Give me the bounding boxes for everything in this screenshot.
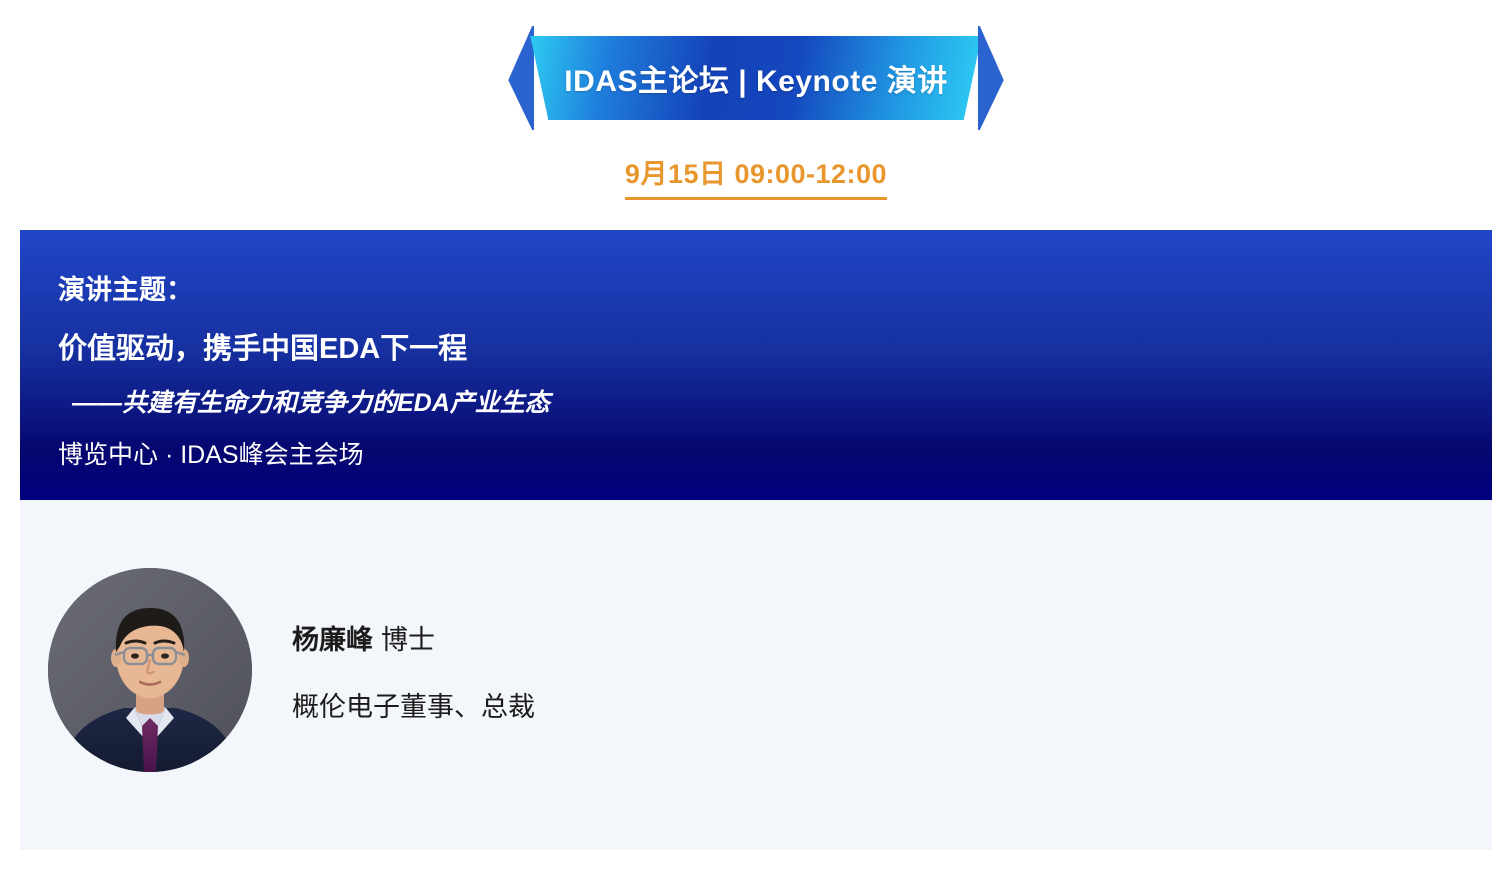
- speaker-honorific: 博士: [381, 625, 435, 655]
- topic-panel: 演讲主题： 价值驱动，携手中国EDA下一程 ——共建有生命力和竞争力的EDA产业…: [20, 230, 1492, 500]
- speaker-panel: 杨廉峰博士 概伦电子董事、总裁: [20, 500, 1492, 850]
- topic-label: 演讲主题：: [58, 268, 1492, 307]
- topic-main-title: 价值驱动，携手中国EDA下一程: [58, 325, 1492, 367]
- banner-title: IDAS主论坛 | Keynote 演讲: [564, 56, 947, 100]
- session-datetime: 9月15日 09:00-12:00: [0, 152, 1512, 200]
- chevron-left-icon: [508, 26, 534, 130]
- speaker-name-row: 杨廉峰博士: [292, 618, 535, 657]
- topic-subtitle: ——共建有生命力和竞争力的EDA产业生态: [72, 383, 1492, 419]
- banner-body: IDAS主论坛 | Keynote 演讲: [530, 36, 981, 120]
- keynote-banner: IDAS主论坛 | Keynote 演讲: [0, 26, 1512, 130]
- banner-shape: IDAS主论坛 | Keynote 演讲: [508, 26, 1003, 130]
- topic-venue: 博览中心 · IDAS峰会主会场: [58, 435, 1492, 471]
- speaker-info: 杨廉峰博士 概伦电子董事、总裁: [292, 618, 535, 724]
- chevron-right-icon: [978, 26, 1004, 130]
- speaker-title: 概伦电子董事、总裁: [292, 685, 535, 724]
- session-datetime-text: 9月15日 09:00-12:00: [625, 152, 887, 200]
- speaker-name: 杨廉峰: [292, 625, 373, 655]
- speaker-portrait: [48, 568, 252, 772]
